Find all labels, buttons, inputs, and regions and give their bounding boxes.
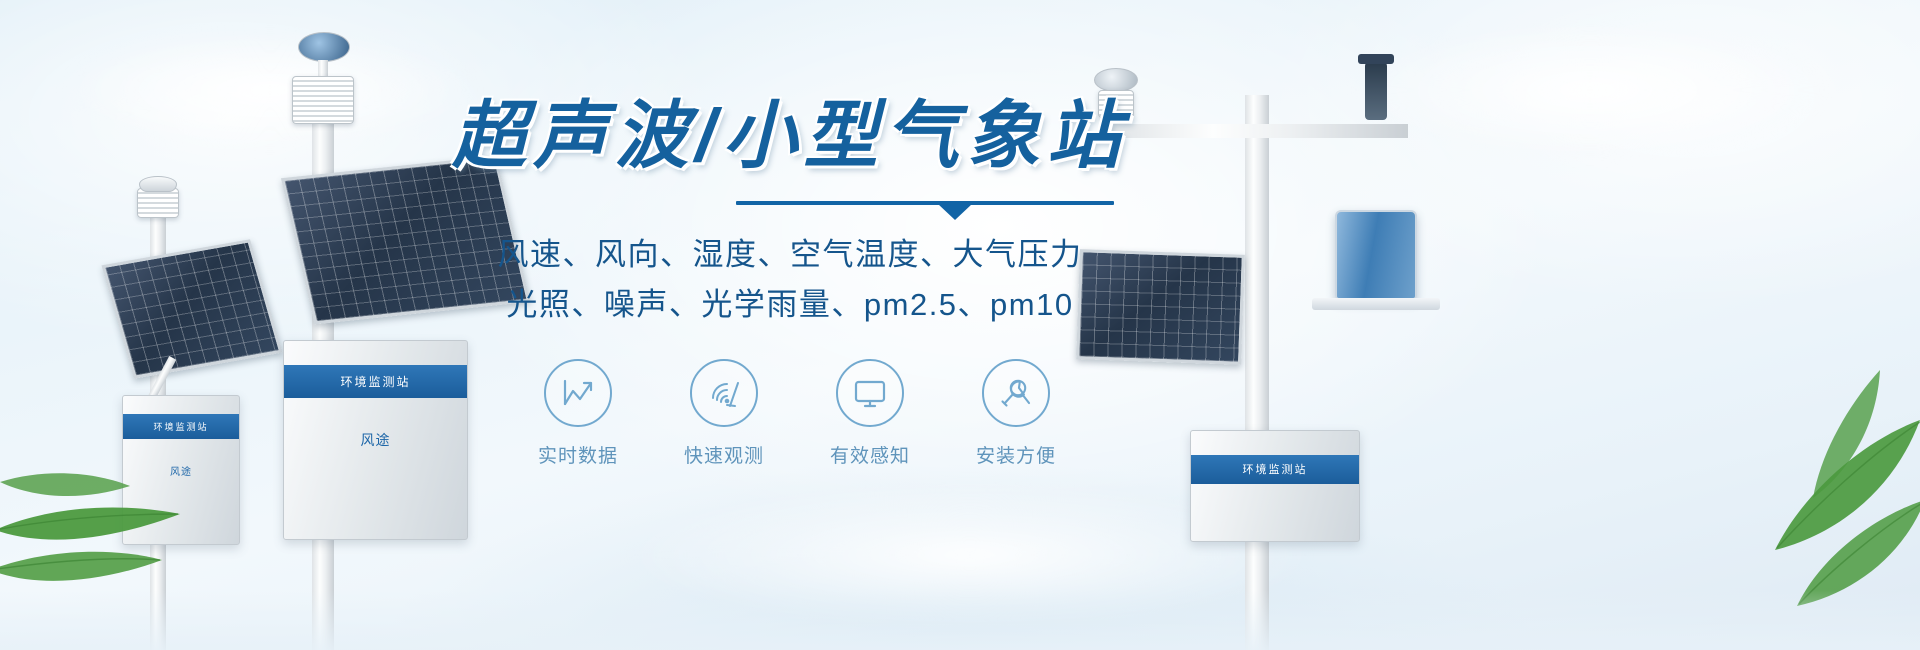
feature-label: 实时数据 <box>525 441 631 468</box>
divider-triangle-icon <box>938 204 972 220</box>
product-banner: 环境监测站 风途 环境监测站 风途 <box>0 0 1920 650</box>
feature-item-realtime-data[interactable]: 实时数据 <box>525 359 631 468</box>
page-title: 超声波/小型气象站 <box>430 96 1150 176</box>
feature-item-fast-observation[interactable]: 快速观测 <box>671 359 777 468</box>
feature-label: 安装方便 <box>963 441 1069 468</box>
feature-list: 实时数据 快速观测 <box>430 359 1150 468</box>
enclosure-box-left: 环境监测站 风途 <box>122 395 240 545</box>
feature-label: 快速观测 <box>671 441 777 468</box>
enclosure-box-right: 环境监测站 <box>1190 430 1360 542</box>
station-nameplate: 环境监测站 <box>123 414 239 439</box>
feature-label: 有效感知 <box>817 441 923 468</box>
station-nameplate-text: 环境监测站 <box>153 420 208 433</box>
monitor-screen-icon <box>852 377 888 409</box>
rain-gauge <box>1335 210 1417 300</box>
banner-text-block: 超声波/小型气象站 风速、风向、湿度、空气温度、大气压力 光照、噪声、光学雨量、… <box>430 96 1150 468</box>
radar-signal-icon <box>706 376 742 410</box>
mast-pole <box>1245 95 1269 650</box>
subtitle-line-2: 光照、噪声、光学雨量、pm2.5、pm10 <box>430 280 1150 331</box>
wrench-screwdriver-icon <box>998 376 1034 410</box>
feature-circle <box>544 359 612 427</box>
feature-circle <box>690 359 758 427</box>
brand-label: 风途 <box>123 463 239 478</box>
subtitle-line-1: 风速、风向、湿度、空气温度、大气压力 <box>430 230 1150 281</box>
feature-item-easy-install[interactable]: 安装方便 <box>963 359 1069 468</box>
radiation-shield-sensor <box>292 76 354 124</box>
wind-vane-top <box>1358 54 1394 64</box>
ultrasonic-anemometer-head <box>298 32 350 62</box>
feature-circle <box>982 359 1050 427</box>
rain-gauge-shelf <box>1312 298 1440 310</box>
subtitle-block: 风速、风向、湿度、空气温度、大气压力 光照、噪声、光学雨量、pm2.5、pm10 <box>430 230 1150 331</box>
sensor-cap <box>139 176 177 192</box>
divider-bar <box>736 201 1114 205</box>
leaf-decoration-right <box>1625 370 1920 630</box>
station-nameplate: 环境监测站 <box>1191 455 1359 484</box>
station-nameplate-text: 环境监测站 <box>1243 461 1308 477</box>
wind-vane-sensor <box>1365 62 1387 120</box>
radiation-shield-sensor <box>137 188 179 218</box>
station-nameplate-text: 环境监测站 <box>340 373 410 390</box>
feature-circle <box>836 359 904 427</box>
feature-item-effective-sensing[interactable]: 有效感知 <box>817 359 923 468</box>
ultrasonic-anemometer-head <box>1094 68 1138 92</box>
cross-arm <box>1108 124 1408 138</box>
title-divider <box>736 198 1114 210</box>
line-chart-icon <box>560 377 596 409</box>
